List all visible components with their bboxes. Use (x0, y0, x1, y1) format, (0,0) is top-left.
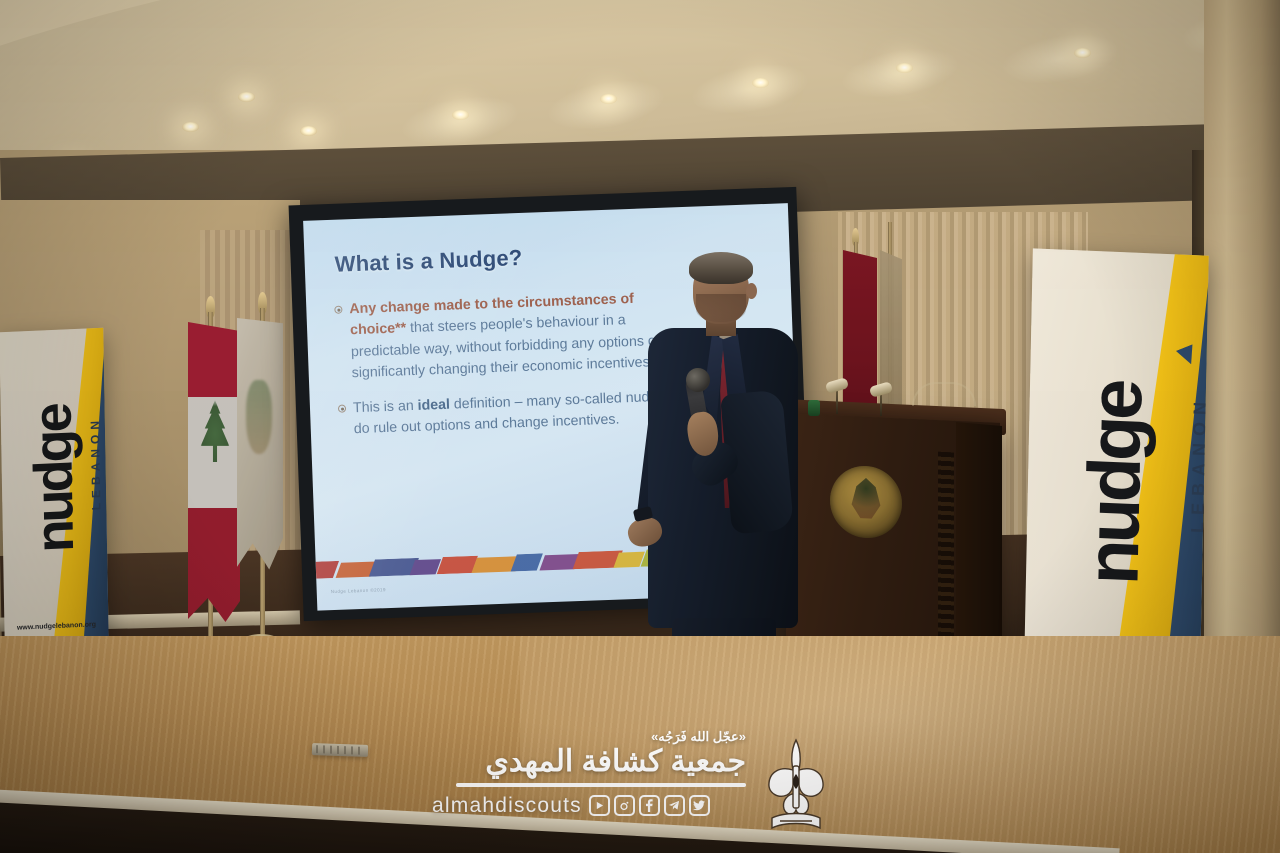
banner-wordmark: nudge (1069, 383, 1158, 587)
slide-bullet-lead: This is an (353, 398, 418, 416)
youtube-icon[interactable] (589, 795, 610, 816)
watermark-handle-row: almahdiscouts (432, 794, 746, 818)
speaker-hair (689, 252, 753, 284)
banner-wordmark: nudge (21, 390, 86, 569)
twitter-icon[interactable] (689, 795, 710, 816)
mic-stem (836, 388, 838, 414)
watermark-organization: جمعية كشافة المهدي (432, 745, 746, 779)
bullet-dot-icon (338, 405, 346, 413)
bullet-dot-icon (334, 306, 342, 314)
watermark-social-icons (589, 795, 710, 816)
ceiling-downlight (896, 63, 913, 73)
floor-socket-plate (312, 743, 368, 757)
speaker-face-shadow (696, 294, 746, 322)
banner-country-label: LEBANON (87, 383, 104, 544)
instagram-icon[interactable] (614, 795, 635, 816)
ceiling-downlight (182, 122, 199, 132)
watermark-overlay: «عجّل الله فَرَجُه» جمعية كشافة المهدي a… (432, 730, 832, 842)
ribbon-segment (409, 559, 441, 577)
facebook-icon[interactable] (639, 795, 660, 816)
ceiling-downlight (300, 126, 317, 136)
watermark-divider (456, 783, 746, 787)
ceiling-downlight (238, 92, 255, 102)
podium-microphones (822, 374, 918, 416)
ceiling-downlight (452, 110, 469, 120)
speaker-ear (746, 283, 757, 299)
telegram-icon[interactable] (664, 795, 685, 816)
ceiling-downlight (600, 94, 617, 104)
ceiling-downlight (1074, 48, 1091, 58)
white-flag-emblem (246, 380, 272, 454)
ceiling-downlight (752, 78, 769, 88)
slide-bullet-bold: ideal (417, 397, 450, 414)
watermark-dua: «عجّل الله فَرَجُه» (432, 730, 746, 744)
ribbon-segment (511, 553, 543, 571)
watermark-handle: almahdiscouts (432, 794, 582, 818)
floor-socket-slots (316, 745, 364, 755)
nudge-lebanon-banner-left: nudge LEBANON www.nudgelebanon.org (0, 328, 109, 646)
watermark-text-column: «عجّل الله فَرَجُه» جمعية كشافة المهدي a… (432, 730, 746, 818)
photo-scene: What is a Nudge? Any change made to the … (0, 0, 1280, 853)
scout-fleur-de-lis-emblem (762, 736, 830, 836)
slide-credit: Nudge Lebanon ©2019 (331, 587, 386, 594)
lebanon-flag (188, 322, 240, 622)
